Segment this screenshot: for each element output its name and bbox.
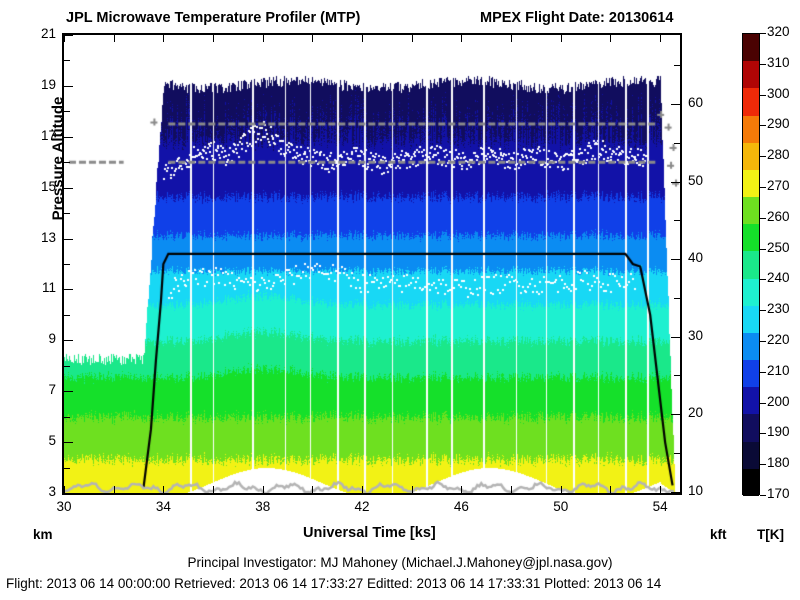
colorbar-band [743, 61, 759, 88]
colorbar-tick-label: 220 [767, 332, 790, 347]
y-tick-label-left: 3 [30, 484, 56, 499]
x-tick-top [312, 35, 313, 42]
colorbar-tick-label: 260 [767, 209, 790, 224]
x-tick-top [114, 35, 115, 42]
x-tick-bottom [163, 486, 164, 493]
flight-date-title: MPEX Flight Date: 20130614 [480, 10, 673, 26]
y-tick-right-minor [674, 143, 680, 144]
x-axis-unit-km: km [33, 527, 53, 542]
y-tick-left [64, 493, 73, 494]
colorbar-tick-label: 280 [767, 147, 790, 162]
colorbar-tick [760, 495, 766, 496]
colorbar-band [743, 170, 759, 197]
x-tick-top [64, 35, 65, 42]
colorbar-tick-label: 300 [767, 86, 790, 101]
colorbar-tick [760, 33, 766, 34]
x-tick-top [660, 35, 661, 42]
y-axis-unit-kft: kft [710, 527, 727, 542]
x-tick-bottom [660, 486, 661, 493]
colorbar-tick-label: 180 [767, 455, 790, 470]
x-tick-top [213, 35, 214, 42]
colorbar-tick [760, 218, 766, 219]
x-tick-top [561, 35, 562, 42]
colorbar-tick-label: 320 [767, 24, 790, 39]
y-tick-left [64, 289, 73, 290]
y-tick-right [671, 259, 680, 260]
colorbar-band [743, 469, 759, 496]
colorbar-tick-label: 290 [767, 116, 790, 131]
colorbar-band [743, 442, 759, 469]
temperature-heatmap [64, 35, 680, 493]
y-tick-label-left: 5 [30, 433, 56, 448]
colorbar-tick-label: 190 [767, 424, 790, 439]
x-tick-label: 38 [243, 499, 283, 514]
colorbar-tick [760, 403, 766, 404]
colorbar-tick [760, 433, 766, 434]
colorbar: 1701801902002102202302402502602702802903… [742, 33, 760, 495]
colorbar-band [743, 224, 759, 251]
plot-area [62, 33, 682, 495]
page-title: JPL Microwave Temperature Profiler (MTP) [66, 10, 360, 26]
y-tick-right-minor [674, 453, 680, 454]
y-tick-right [671, 492, 680, 493]
y-tick-label-right: 40 [688, 250, 718, 265]
x-tick-bottom [114, 486, 115, 493]
x-tick-bottom [64, 486, 65, 493]
y-tick-left [64, 35, 73, 36]
y-tick-label-right: 60 [688, 95, 718, 110]
x-tick-label: 50 [541, 499, 581, 514]
colorbar-band [743, 414, 759, 441]
y-tick-left [64, 417, 70, 418]
colorbar-tick [760, 279, 766, 280]
colorbar-unit-label: T[K] [757, 527, 784, 542]
x-tick-label: 42 [342, 499, 382, 514]
y-tick-right-minor [674, 65, 680, 66]
y-tick-right-minor [674, 220, 680, 221]
colorbar-tick [760, 187, 766, 188]
x-tick-bottom [610, 486, 611, 493]
colorbar-band [743, 88, 759, 115]
colorbar-tick [760, 341, 766, 342]
x-tick-bottom [312, 486, 313, 493]
x-tick-bottom [561, 486, 562, 493]
x-tick-bottom [511, 486, 512, 493]
y-tick-right [671, 182, 680, 183]
colorbar-tick-label: 170 [767, 486, 790, 501]
x-tick-label: 46 [441, 499, 481, 514]
colorbar-tick-label: 240 [767, 270, 790, 285]
x-tick-label: 34 [143, 499, 183, 514]
colorbar-tick-label: 250 [767, 240, 790, 255]
x-tick-top [461, 35, 462, 42]
x-tick-top [412, 35, 413, 42]
y-tick-left [64, 442, 73, 443]
x-tick-label: 54 [640, 499, 680, 514]
x-axis-title: Universal Time [ks] [303, 525, 436, 541]
y-tick-label-left: 21 [30, 26, 56, 41]
y-axis-title: Pressure Altitude [50, 49, 67, 269]
colorbar-tick-label: 230 [767, 301, 790, 316]
x-tick-top [163, 35, 164, 42]
colorbar-band [743, 333, 759, 360]
colorbar-gradient [742, 33, 760, 495]
y-tick-left [64, 468, 70, 469]
colorbar-tick [760, 464, 766, 465]
colorbar-tick-label: 310 [767, 55, 790, 70]
y-tick-label-right: 10 [688, 483, 718, 498]
footer-investigator: Principal Investigator: MJ Mahoney (Mich… [0, 555, 800, 570]
y-tick-label-right: 20 [688, 405, 718, 420]
y-tick-right [671, 337, 680, 338]
colorbar-tick [760, 372, 766, 373]
colorbar-band [743, 279, 759, 306]
colorbar-band [743, 143, 759, 170]
colorbar-band [743, 360, 759, 387]
x-tick-bottom [362, 486, 363, 493]
x-tick-top [362, 35, 363, 42]
colorbar-tick [760, 156, 766, 157]
x-tick-label: 30 [44, 499, 84, 514]
colorbar-tick [760, 249, 766, 250]
x-tick-top [610, 35, 611, 42]
y-tick-label-left: 7 [30, 382, 56, 397]
y-tick-left [64, 340, 73, 341]
x-tick-bottom [461, 486, 462, 493]
x-tick-top [511, 35, 512, 42]
y-tick-label-right: 50 [688, 173, 718, 188]
colorbar-band [743, 251, 759, 278]
x-tick-bottom [263, 486, 264, 493]
y-tick-right-minor [674, 298, 680, 299]
footer-timestamps: Flight: 2013 06 14 00:00:00 Retrieved: 2… [6, 576, 800, 591]
x-tick-top [263, 35, 264, 42]
colorbar-tick [760, 125, 766, 126]
mtp-plot-page: JPL Microwave Temperature Profiler (MTP)… [0, 0, 800, 600]
y-tick-label-left: 11 [30, 280, 56, 295]
colorbar-band [743, 387, 759, 414]
colorbar-tick [760, 95, 766, 96]
y-tick-right [671, 104, 680, 105]
x-tick-bottom [213, 486, 214, 493]
colorbar-band [743, 34, 759, 61]
y-tick-label-left: 9 [30, 331, 56, 346]
colorbar-tick-label: 270 [767, 178, 790, 193]
y-tick-left [64, 366, 70, 367]
colorbar-band [743, 197, 759, 224]
x-tick-bottom [412, 486, 413, 493]
y-tick-left [64, 315, 70, 316]
colorbar-tick-label: 210 [767, 363, 790, 378]
colorbar-tick-label: 200 [767, 394, 790, 409]
colorbar-band [743, 306, 759, 333]
y-tick-right [671, 414, 680, 415]
y-tick-right-minor [674, 375, 680, 376]
colorbar-band [743, 116, 759, 143]
colorbar-tick [760, 64, 766, 65]
colorbar-tick [760, 310, 766, 311]
y-tick-left [64, 391, 73, 392]
y-tick-label-right: 30 [688, 328, 718, 343]
